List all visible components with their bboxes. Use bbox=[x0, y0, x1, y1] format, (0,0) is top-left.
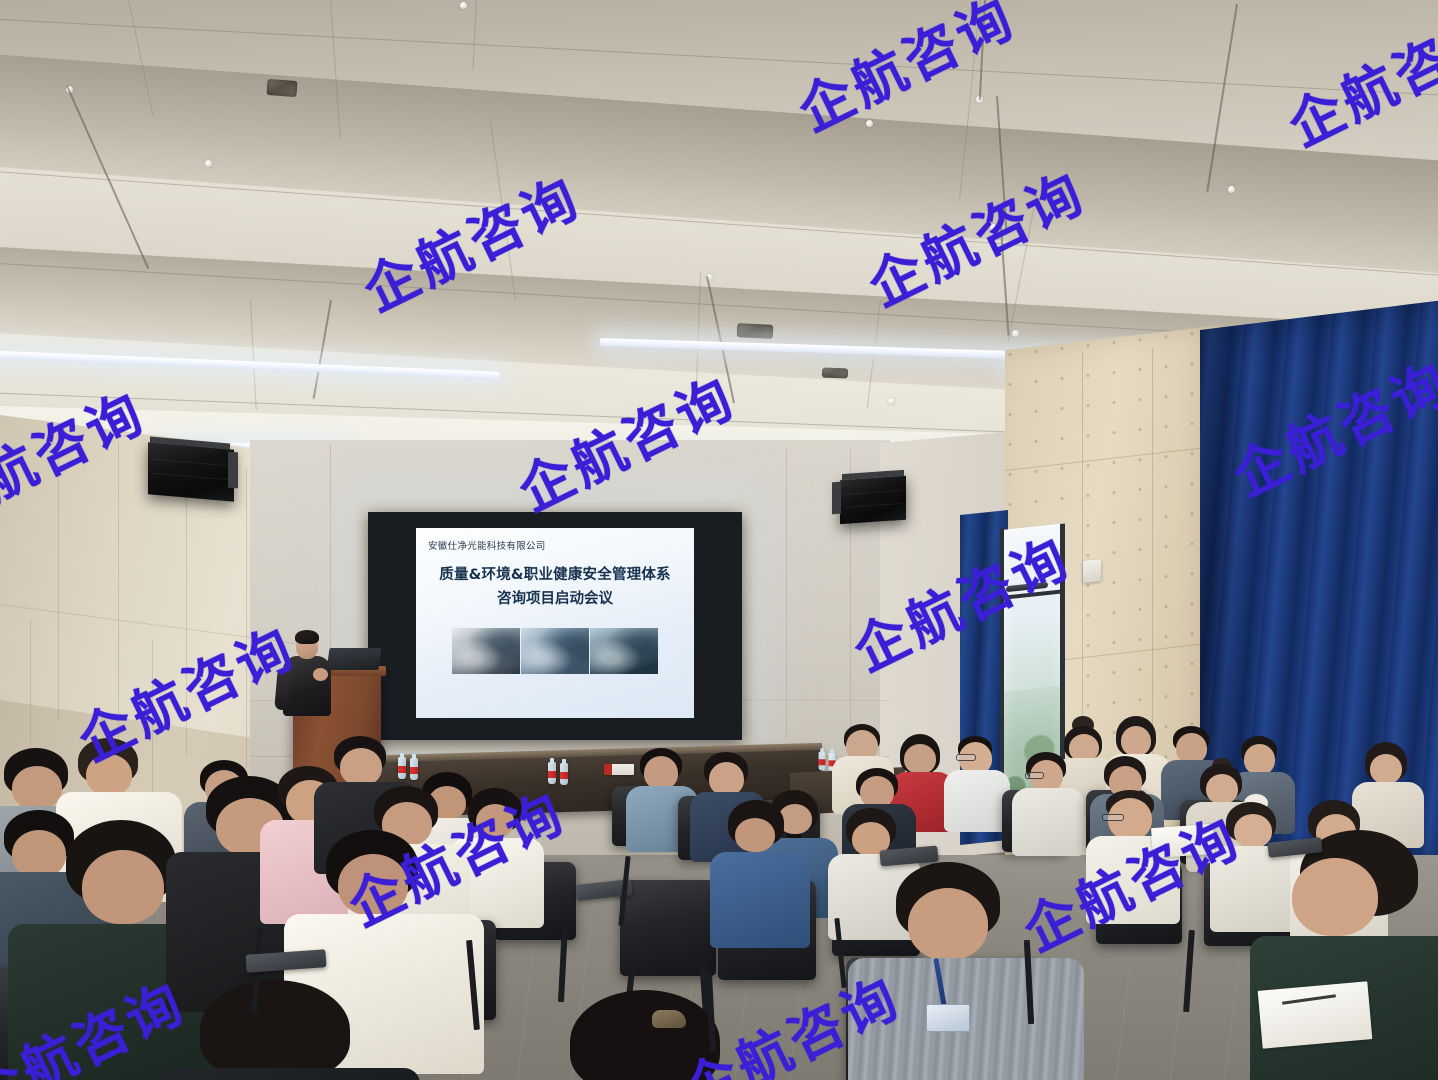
ceiling-fixing bbox=[460, 2, 467, 9]
slide-title-line-2: 咨询项目启动会议 bbox=[416, 587, 694, 608]
ceiling-fixing bbox=[1012, 330, 1019, 337]
notebook bbox=[1151, 824, 1215, 858]
water-bottle bbox=[819, 752, 826, 771]
slide-photo bbox=[590, 628, 658, 674]
ceiling-vent bbox=[737, 323, 774, 339]
projection-screen: 安徽仕净光能科技有限公司 质量&环境&职业健康安全管理体系 咨询项目启动会议 bbox=[368, 512, 742, 740]
slide-content: 安徽仕净光能科技有限公司 质量&环境&职业健康安全管理体系 咨询项目启动会议 bbox=[416, 528, 694, 718]
speaker-bracket bbox=[832, 482, 841, 515]
ceiling-fixing bbox=[888, 398, 895, 405]
ceiling-fixing bbox=[1228, 186, 1235, 193]
wall-panel-seam bbox=[246, 468, 247, 768]
slide-title-line-1: 质量&环境&职业健康安全管理体系 bbox=[416, 563, 694, 584]
ceiling-fixing bbox=[990, 224, 997, 231]
shoe bbox=[652, 1010, 686, 1028]
ceiling-vent bbox=[822, 368, 848, 379]
water-bottle bbox=[398, 757, 406, 779]
slide-company-name: 安徽仕净光能科技有限公司 bbox=[428, 538, 546, 552]
ceiling-fixing bbox=[205, 160, 212, 167]
wall-panel-seam bbox=[786, 448, 787, 738]
speaker-icon bbox=[148, 442, 234, 502]
speaker-icon bbox=[840, 476, 906, 525]
ceiling-fixing bbox=[866, 120, 873, 127]
wall-control-panel[interactable] bbox=[1083, 559, 1101, 583]
slide-photo-strip bbox=[452, 628, 658, 674]
slide-photo bbox=[452, 628, 520, 674]
water-bottle bbox=[548, 762, 556, 784]
name-card bbox=[604, 764, 634, 775]
slide-photo bbox=[521, 628, 589, 674]
presenter-hair bbox=[295, 630, 319, 644]
speaker-bracket bbox=[228, 452, 238, 489]
notebook bbox=[1258, 981, 1373, 1048]
wall-panel-seam bbox=[118, 442, 119, 742]
badge bbox=[926, 1004, 970, 1032]
presenter-laptop bbox=[326, 648, 381, 670]
water-bottle bbox=[560, 763, 568, 785]
wall-panel-seam bbox=[186, 455, 187, 755]
ceiling-vent bbox=[266, 79, 297, 97]
wall-panel-seam bbox=[58, 430, 59, 720]
conference-room-photo: 安徽仕净光能科技有限公司 质量&环境&职业健康安全管理体系 咨询项目启动会议 bbox=[0, 0, 1438, 1080]
water-bottle bbox=[410, 758, 418, 780]
presenter-hand bbox=[313, 668, 328, 681]
